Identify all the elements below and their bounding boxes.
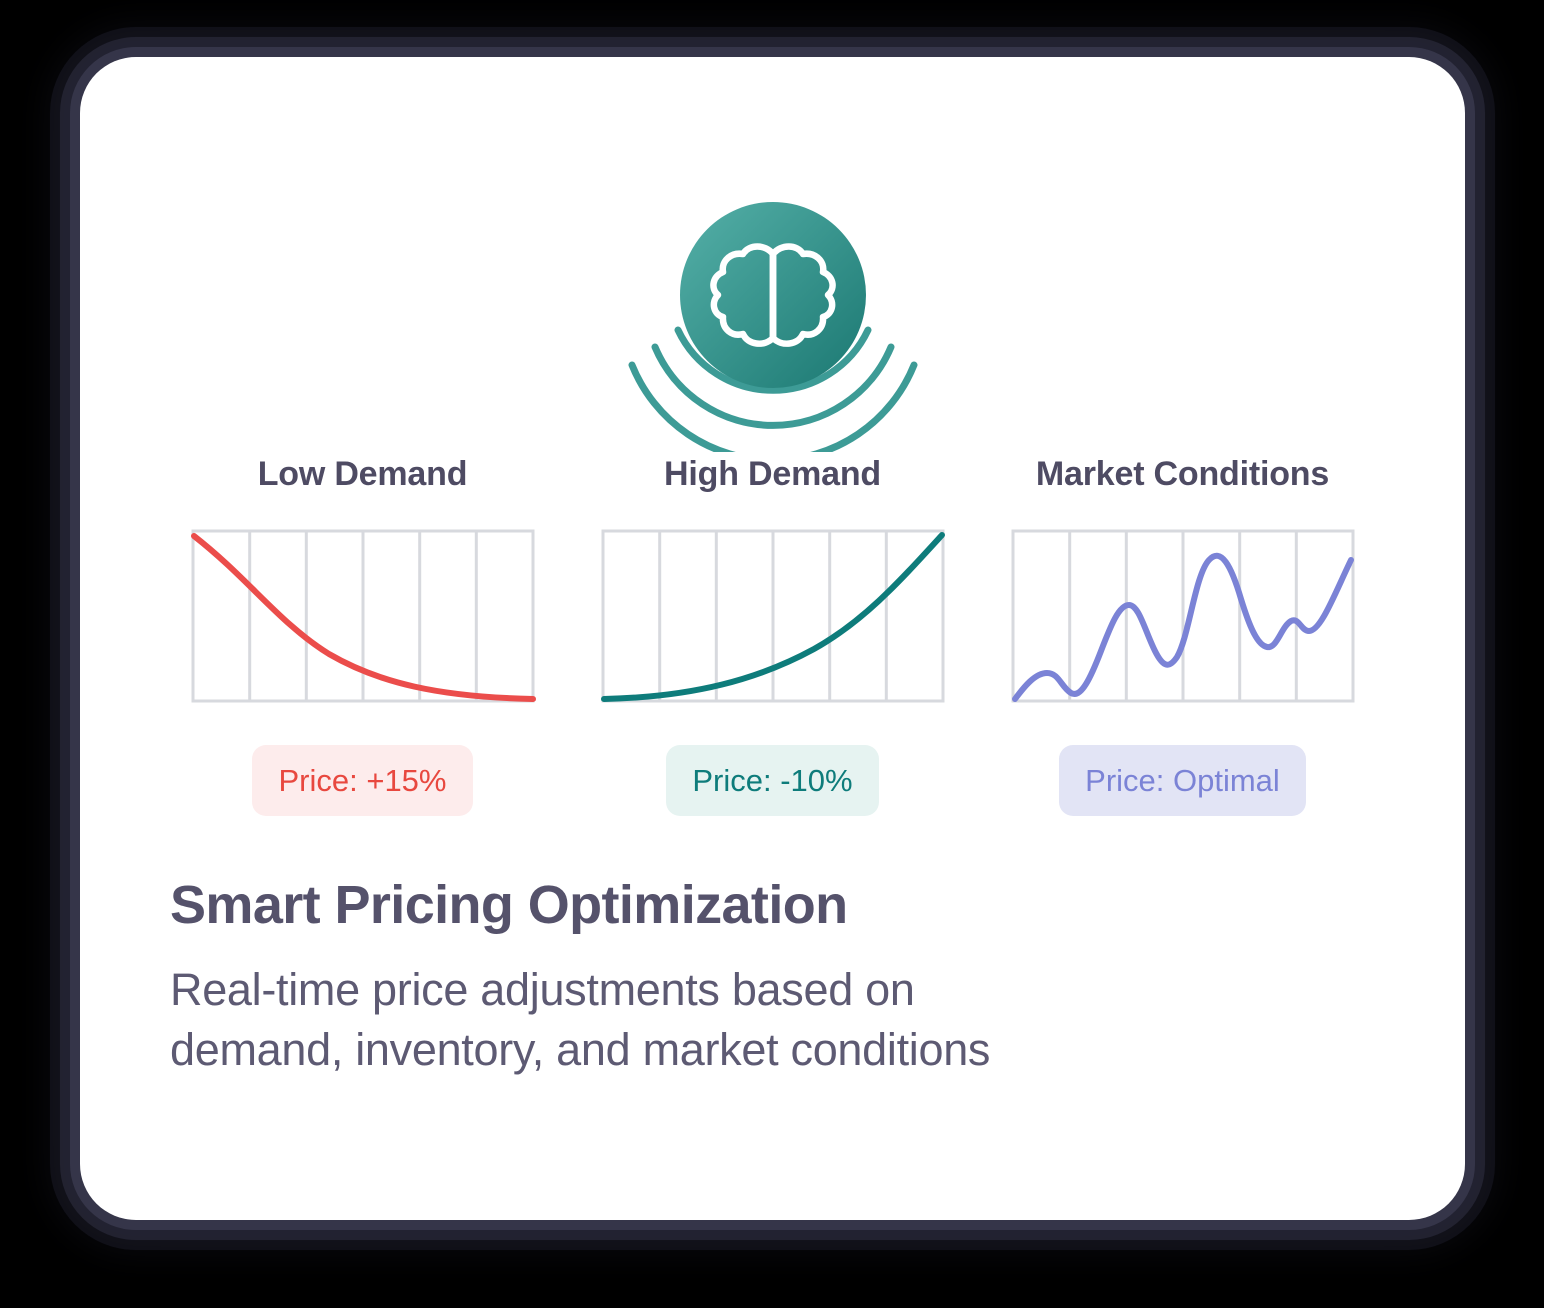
chart-high-demand	[599, 527, 947, 705]
feature-text-block: Smart Pricing Optimization Real-time pri…	[170, 877, 1390, 1080]
feature-card: Low Demand	[80, 57, 1465, 1220]
scenario-row: Low Demand	[180, 457, 1365, 816]
chart-market-conditions	[1009, 527, 1357, 705]
price-badge-market-conditions: Price: Optimal	[1059, 745, 1306, 816]
scenario-high-demand: High Demand	[590, 457, 955, 816]
price-badge-low-demand: Price: +15%	[252, 745, 472, 816]
scenario-market-conditions: Market Conditions	[1000, 457, 1365, 816]
chart-gridlines	[603, 531, 943, 701]
scenario-label-high-demand: High Demand	[664, 457, 881, 491]
scenario-label-market-conditions: Market Conditions	[1036, 457, 1329, 491]
scenario-low-demand: Low Demand	[180, 457, 545, 816]
description-line-2: demand, inventory, and market conditions	[170, 1024, 990, 1075]
chart-gridlines	[193, 531, 533, 701]
chart-gridlines	[1013, 531, 1353, 701]
page-title: Smart Pricing Optimization	[170, 877, 1390, 934]
feature-description: Real-time price adjustments based on dem…	[170, 960, 1390, 1080]
page-background: Low Demand	[0, 0, 1544, 1308]
price-badge-high-demand: Price: -10%	[666, 745, 878, 816]
chart-low-demand	[189, 527, 537, 705]
scenario-label-low-demand: Low Demand	[258, 457, 468, 491]
ai-emblem	[80, 202, 1465, 452]
description-line-1: Real-time price adjustments based on	[170, 964, 915, 1015]
